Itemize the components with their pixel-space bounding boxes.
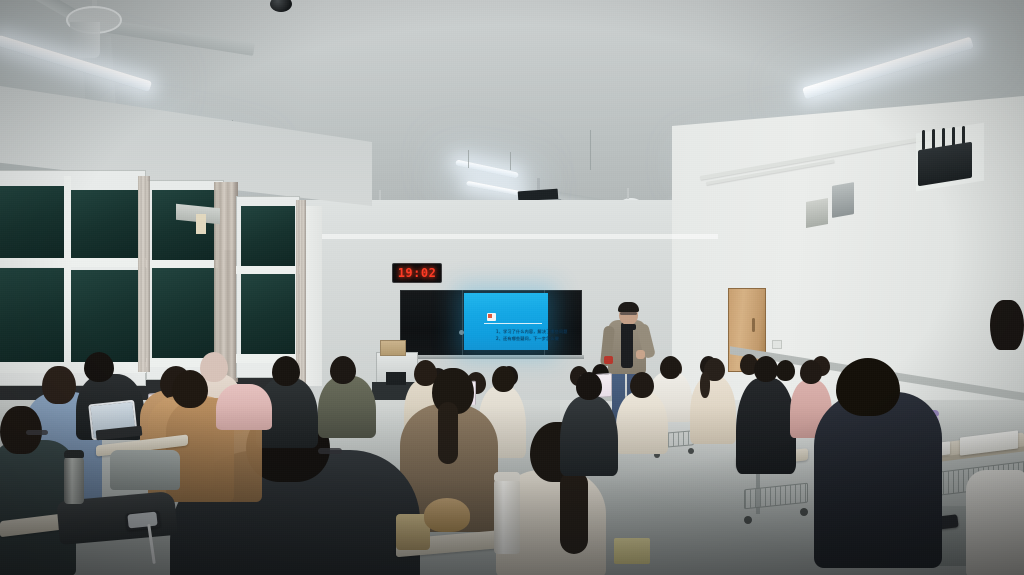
slide-line-2: 2、还有哪些疑问，下一步怎么做 <box>496 336 559 341</box>
led-clock: 19:02 <box>392 263 442 283</box>
thermos-flask <box>64 456 84 504</box>
projection-screen <box>464 293 548 350</box>
chalk-rail <box>396 355 584 359</box>
slide-rule <box>484 323 542 324</box>
lecturer-hand-right <box>636 350 645 359</box>
lecturer-glasses-icon <box>620 312 637 315</box>
notes-sheet <box>614 538 650 564</box>
lectern-box <box>380 340 406 356</box>
wall-speaker-right <box>832 182 854 218</box>
curtain-0[interactable] <box>138 176 150 372</box>
straw-hat <box>424 498 470 532</box>
thermos-flask-center <box>494 478 520 554</box>
glasses-icon <box>26 430 48 435</box>
curtain-2[interactable] <box>296 200 306 384</box>
clock-time: 19:02 <box>398 266 437 280</box>
smartphone-screen[interactable] <box>127 512 157 529</box>
slide-line-1: 1、学习了什么内容，解决了哪些问题 <box>496 329 568 334</box>
lecturer-hair <box>618 302 639 312</box>
cornice <box>300 234 718 239</box>
glasses-icon <box>318 448 342 454</box>
classroom-photo: 1、学习了什么内容，解决了哪些问题 2、还有哪些疑问，下一步怎么做 19:02 <box>0 0 1024 575</box>
red-pointer-icon <box>604 356 613 364</box>
wall-outlet <box>772 340 782 349</box>
lecturer-collar <box>621 324 636 330</box>
lectern-computer <box>386 372 406 385</box>
chair-back-left <box>110 450 180 490</box>
wall-speaker-left <box>806 198 828 228</box>
slide-logo-accent-icon <box>488 314 492 318</box>
wall-notice <box>196 214 206 234</box>
thermos-cap-center <box>494 472 520 481</box>
thermos-cap <box>64 450 84 458</box>
door-handle-icon[interactable] <box>752 318 755 332</box>
blackboard-panel-edge <box>462 290 463 356</box>
